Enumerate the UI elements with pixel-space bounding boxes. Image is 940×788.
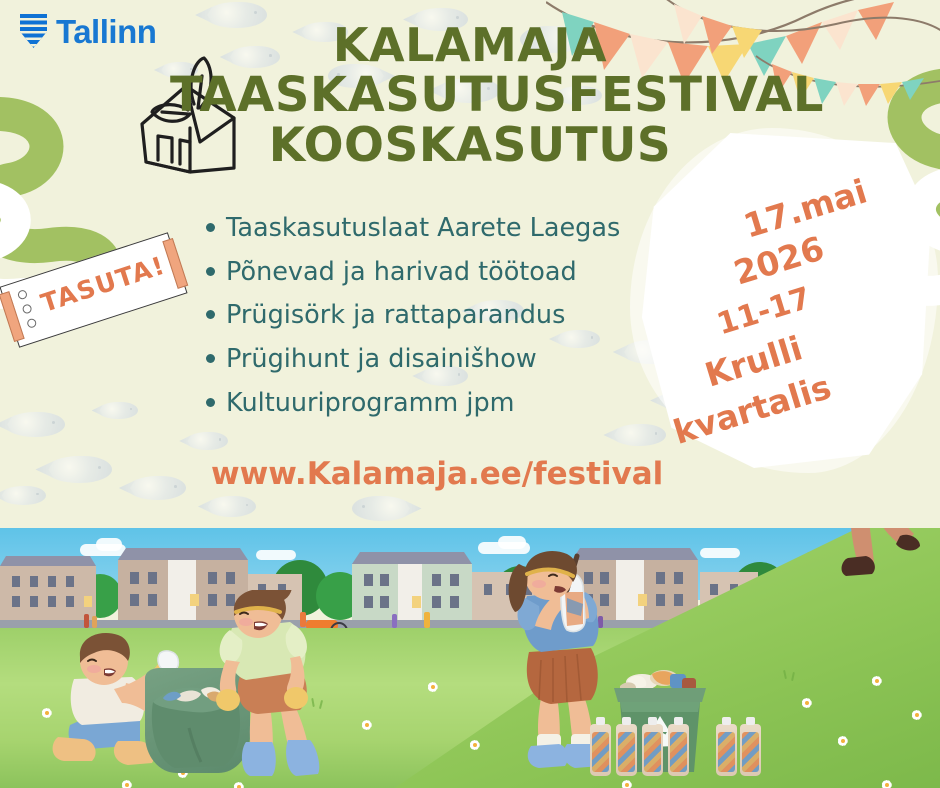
flower bbox=[232, 780, 245, 788]
bullet-dot-icon bbox=[206, 310, 215, 319]
bottle bbox=[590, 724, 611, 776]
title-line-1: Kalamaja bbox=[170, 22, 770, 69]
date-year: 2026 bbox=[729, 228, 828, 292]
list-item-label: Prügisörk ja rattaparandus bbox=[226, 299, 565, 332]
tallinn-shield-icon bbox=[20, 14, 47, 48]
list-item: Prügisörk ja rattaparandus bbox=[206, 299, 620, 332]
fish-icon bbox=[98, 402, 138, 419]
festival-poster: 17.mai 2026 11-17 Krulli kvartalis Talli… bbox=[0, 0, 940, 788]
ticket-holes bbox=[17, 289, 38, 329]
distant-person bbox=[392, 614, 397, 628]
bottle bbox=[668, 724, 689, 776]
title-line-2: Taaskasutusfestival bbox=[170, 71, 770, 120]
list-item: Kultuuriprogramm jpm bbox=[206, 387, 620, 420]
fish-icon bbox=[128, 476, 186, 500]
date-hours: 11-17 bbox=[713, 281, 815, 343]
title-line-3: Kooskasutus bbox=[170, 122, 770, 170]
bullet-dot-icon bbox=[206, 223, 215, 232]
flower bbox=[620, 778, 633, 788]
list-item: Prügihunt ja disainišhow bbox=[206, 343, 620, 376]
list-item-label: Põnevad ja harivad töötoad bbox=[226, 256, 577, 289]
bullet-dot-icon bbox=[206, 354, 215, 363]
fish-icon bbox=[206, 496, 256, 517]
date-card-text: 17.mai 2026 11-17 Krulli kvartalis bbox=[660, 175, 910, 445]
flower bbox=[360, 718, 373, 731]
flower bbox=[910, 708, 923, 721]
bottle bbox=[616, 724, 637, 776]
bottle bbox=[740, 724, 761, 776]
flower bbox=[800, 696, 813, 709]
festival-website-link[interactable]: www.Kalamaja.ee/festival bbox=[211, 456, 663, 492]
flower bbox=[120, 778, 133, 788]
fish-icon bbox=[0, 486, 46, 505]
fish-icon bbox=[46, 456, 112, 483]
fish-icon bbox=[5, 412, 65, 437]
list-item: Põnevad ja harivad töötoad bbox=[206, 256, 620, 289]
park-cleanup-illustration bbox=[0, 528, 940, 788]
girl-holding-trash-bag bbox=[196, 590, 336, 780]
distant-person bbox=[424, 612, 430, 628]
bullet-dot-icon bbox=[206, 398, 215, 407]
flower bbox=[870, 674, 883, 687]
fish-icon bbox=[352, 496, 412, 521]
collected-bottles bbox=[590, 716, 760, 776]
flower bbox=[880, 778, 893, 788]
list-item: Taaskasutuslaat Aarete Laegas bbox=[206, 212, 620, 245]
fish-icon bbox=[186, 432, 228, 450]
list-item-label: Taaskasutuslaat Aarete Laegas bbox=[226, 212, 620, 245]
woman-walking-with-bag bbox=[820, 528, 930, 588]
tallinn-logo: Tallinn bbox=[20, 14, 156, 48]
list-item-label: Prügihunt ja disainišhow bbox=[226, 343, 537, 376]
bullet-dot-icon bbox=[206, 267, 215, 276]
list-item-label: Kultuuriprogramm jpm bbox=[226, 387, 515, 420]
program-list: Taaskasutuslaat Aarete Laegas Põnevad ja… bbox=[206, 212, 620, 430]
bottle bbox=[642, 724, 663, 776]
flower bbox=[468, 738, 481, 751]
poster-title: Kalamaja Taaskasutusfestival Kooskasutus bbox=[170, 22, 770, 170]
tallinn-wordmark: Tallinn bbox=[56, 15, 156, 48]
flower bbox=[426, 680, 439, 693]
flower bbox=[836, 734, 849, 747]
bottle bbox=[716, 724, 737, 776]
